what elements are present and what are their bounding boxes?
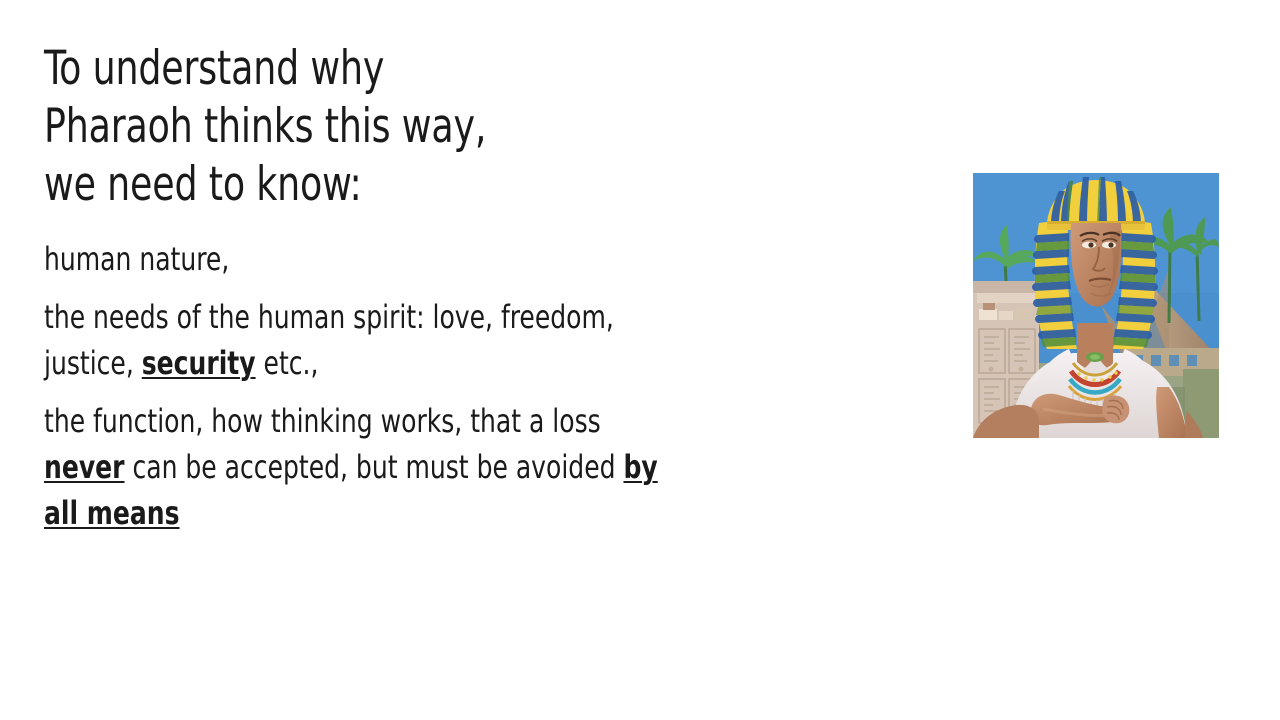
text-run: human nature,	[44, 240, 229, 278]
text-run: the function, how thinking works, that a…	[44, 402, 601, 440]
body-paragraph-2: the needs of the human spirit: love, fre…	[44, 294, 688, 386]
text-run: the needs of the human spirit: love, fre…	[44, 298, 614, 382]
body-paragraph-3: the function, how thinking works, that a…	[44, 398, 688, 536]
pharaoh-illustration	[973, 173, 1219, 438]
presentation-slide: To understand why Pharaoh thinks this wa…	[0, 0, 1280, 720]
emphasis-never: never	[44, 448, 125, 486]
slide-body: human nature, the needs of the human spi…	[44, 236, 704, 536]
page-title: To understand why Pharaoh thinks this wa…	[44, 40, 491, 214]
emphasis-security: security	[142, 344, 256, 382]
text-run: etc.,	[256, 344, 319, 382]
text-run: can be accepted, but must be avoided	[125, 448, 624, 486]
body-paragraph-1: human nature,	[44, 236, 688, 282]
pharaoh-illustration-graphic	[973, 173, 1219, 438]
slide-text-column: To understand why Pharaoh thinks this wa…	[44, 40, 704, 536]
